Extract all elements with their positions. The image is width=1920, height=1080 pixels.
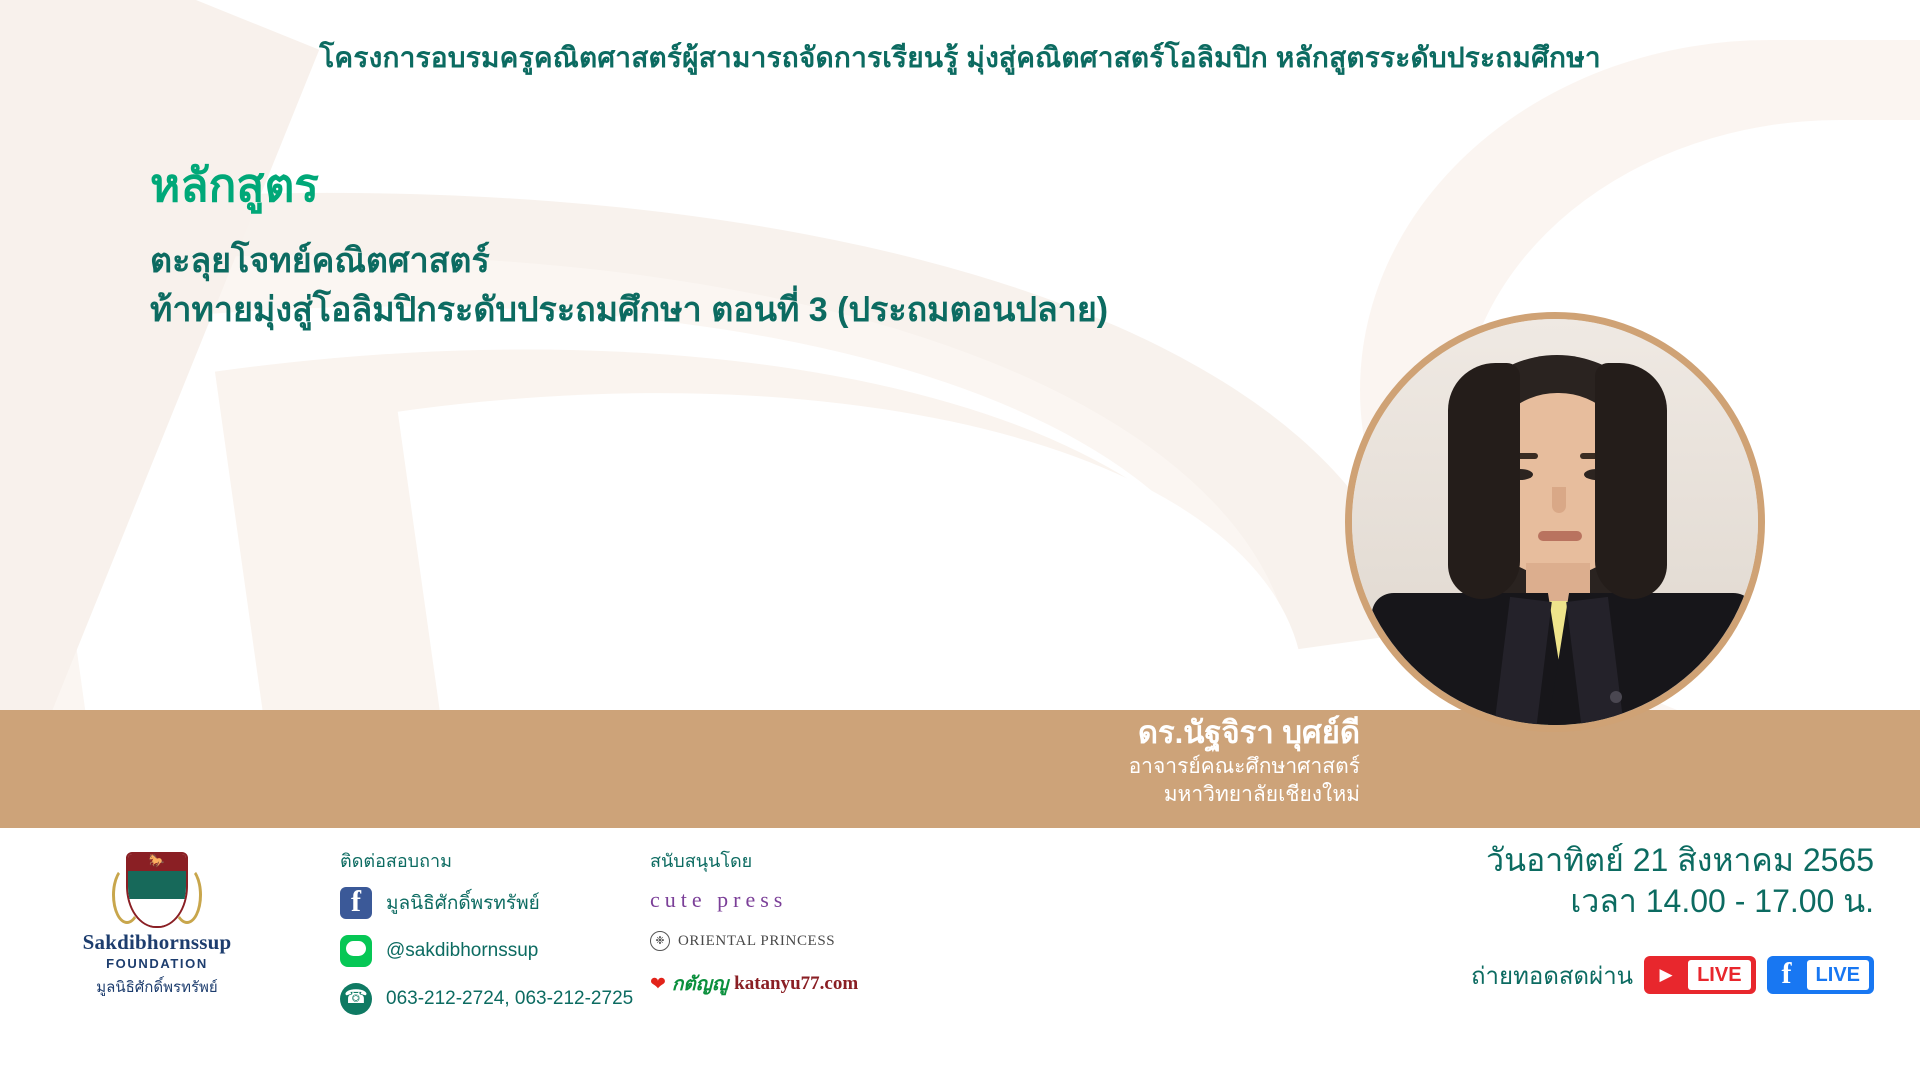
portrait-jacket-button	[1610, 691, 1622, 703]
horse-icon: 🐎	[138, 853, 176, 869]
speaker-role-line-2: มหาวิทยาลัยเชียงใหม่	[900, 781, 1360, 809]
line-icon	[340, 935, 372, 967]
foundation-name-th: มูลนิธิศักดิ์พรทรัพย์	[32, 975, 282, 999]
sponsor-oriental-princess-text: ORIENTAL PRINCESS	[678, 933, 835, 950]
speaker-info: ดร.นัฐจิรา บุศย์ดี อาจารย์คณะศึกษาศาสตร์…	[900, 714, 1360, 809]
shield-icon: 🐎	[126, 852, 188, 928]
sponsor-heading: สนับสนุนโดย	[650, 846, 950, 875]
sponsor-column: สนับสนุนโดย cute press ❉ ORIENTAL PRINCE…	[650, 846, 950, 999]
foundation-subtitle-en: FOUNDATION	[32, 956, 282, 971]
contact-phone-text: 063-212-2724, 063-212-2725	[386, 988, 633, 1010]
facebook-f-icon: f	[1767, 956, 1807, 994]
contact-row-facebook[interactable]: มูลนิธิศักดิ์พรทรัพย์	[340, 887, 640, 919]
facebook-live-label: LIVE	[1807, 960, 1869, 990]
broadcast-row: ถ่ายทอดสดผ่าน ▶ LIVE f LIVE	[1471, 956, 1874, 995]
youtube-play-icon: ▶	[1644, 956, 1688, 994]
poster-canvas: โครงการอบรมครูคณิตศาสตร์ผู้สามารถจัดการเ…	[0, 0, 1920, 1080]
schedule-time: เวลา 14.00 - 17.00 น.	[1471, 881, 1874, 922]
contact-row-line[interactable]: @sakdibhornssup	[340, 935, 640, 967]
wreath-left-icon	[112, 866, 142, 924]
sponsor-cute-press: cute press	[650, 887, 950, 913]
contact-facebook-text: มูลนิธิศักดิ์พรทรัพย์	[386, 888, 540, 918]
course-title-line-1: ตะลุยโจทย์คณิตศาสตร์	[150, 237, 1108, 286]
youtube-live-label: LIVE	[1688, 960, 1750, 990]
portrait-nose	[1552, 487, 1566, 513]
contact-line-text: @sakdibhornssup	[386, 940, 538, 962]
youtube-live-badge[interactable]: ▶ LIVE	[1644, 956, 1755, 994]
portrait-hair-front-right	[1595, 363, 1667, 599]
speaker-name: ดร.นัฐจิรา บุศย์ดี	[900, 714, 1360, 753]
oriental-princess-icon: ❉	[650, 931, 670, 951]
foundation-name-en: Sakdibhornssup	[32, 930, 282, 955]
contact-heading: ติดต่อสอบถาม	[340, 846, 640, 875]
course-block: หลักสูตร ตะลุยโจทย์คณิตศาสตร์ ท้าทายมุ่ง…	[150, 160, 1108, 335]
sponsor-katanyu[interactable]: ❤ กตัญญู katanyu77.com	[650, 969, 950, 999]
contact-column: ติดต่อสอบถาม มูลนิธิศักดิ์พรทรัพย์ @sakd…	[340, 846, 640, 1031]
program-title: โครงการอบรมครูคณิตศาสตร์ผู้สามารถจัดการเ…	[0, 36, 1920, 80]
portrait-mouth	[1538, 531, 1582, 541]
facebook-live-badge[interactable]: f LIVE	[1767, 956, 1874, 994]
course-label: หลักสูตร	[150, 160, 1108, 211]
portrait-hair-front-left	[1448, 363, 1520, 599]
broadcast-label: ถ่ายทอดสดผ่าน	[1471, 956, 1633, 995]
footer: 🐎 Sakdibhornssup FOUNDATION มูลนิธิศักดิ…	[0, 828, 1920, 1080]
phone-icon	[340, 983, 372, 1015]
schedule-date: วันอาทิตย์ 21 สิงหาคม 2565	[1471, 840, 1874, 881]
sponsor-katanyu-url: katanyu77.com	[734, 973, 858, 995]
course-title-line-2: ท้าทายมุ่งสู่โอลิมปิกระดับประถมศึกษา ตอน…	[150, 286, 1108, 335]
foundation-logo: 🐎 Sakdibhornssup FOUNDATION มูลนิธิศักดิ…	[32, 852, 282, 999]
sponsor-katanyu-th: กตัญญู	[672, 969, 728, 999]
facebook-icon	[340, 887, 372, 919]
speaker-photo	[1345, 312, 1765, 732]
speaker-role-line-1: อาจารย์คณะศึกษาศาสตร์	[900, 753, 1360, 781]
sponsor-oriental-princess: ❉ ORIENTAL PRINCESS	[650, 931, 950, 951]
schedule-block: วันอาทิตย์ 21 สิงหาคม 2565 เวลา 14.00 - …	[1471, 840, 1874, 995]
contact-row-phone[interactable]: 063-212-2724, 063-212-2725	[340, 983, 640, 1015]
heart-icon: ❤	[650, 973, 666, 996]
wreath-right-icon	[172, 866, 202, 924]
